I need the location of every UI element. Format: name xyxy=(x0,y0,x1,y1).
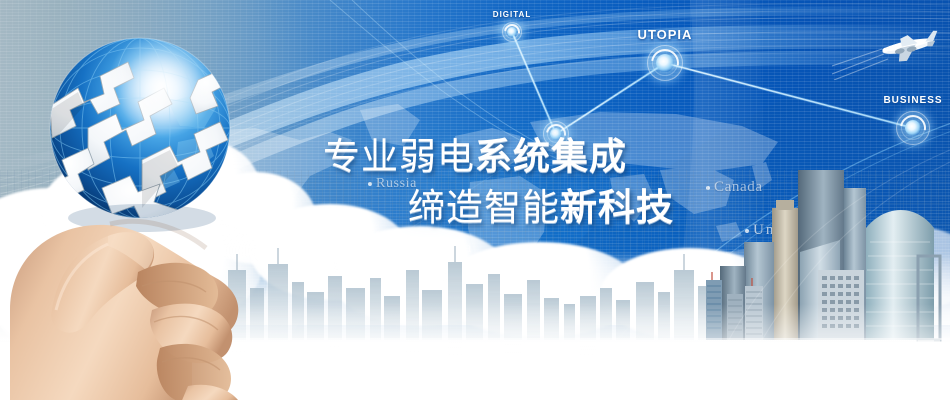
light-streaks xyxy=(0,0,950,400)
hero-banner: Russia Canada China United States xyxy=(0,0,950,400)
